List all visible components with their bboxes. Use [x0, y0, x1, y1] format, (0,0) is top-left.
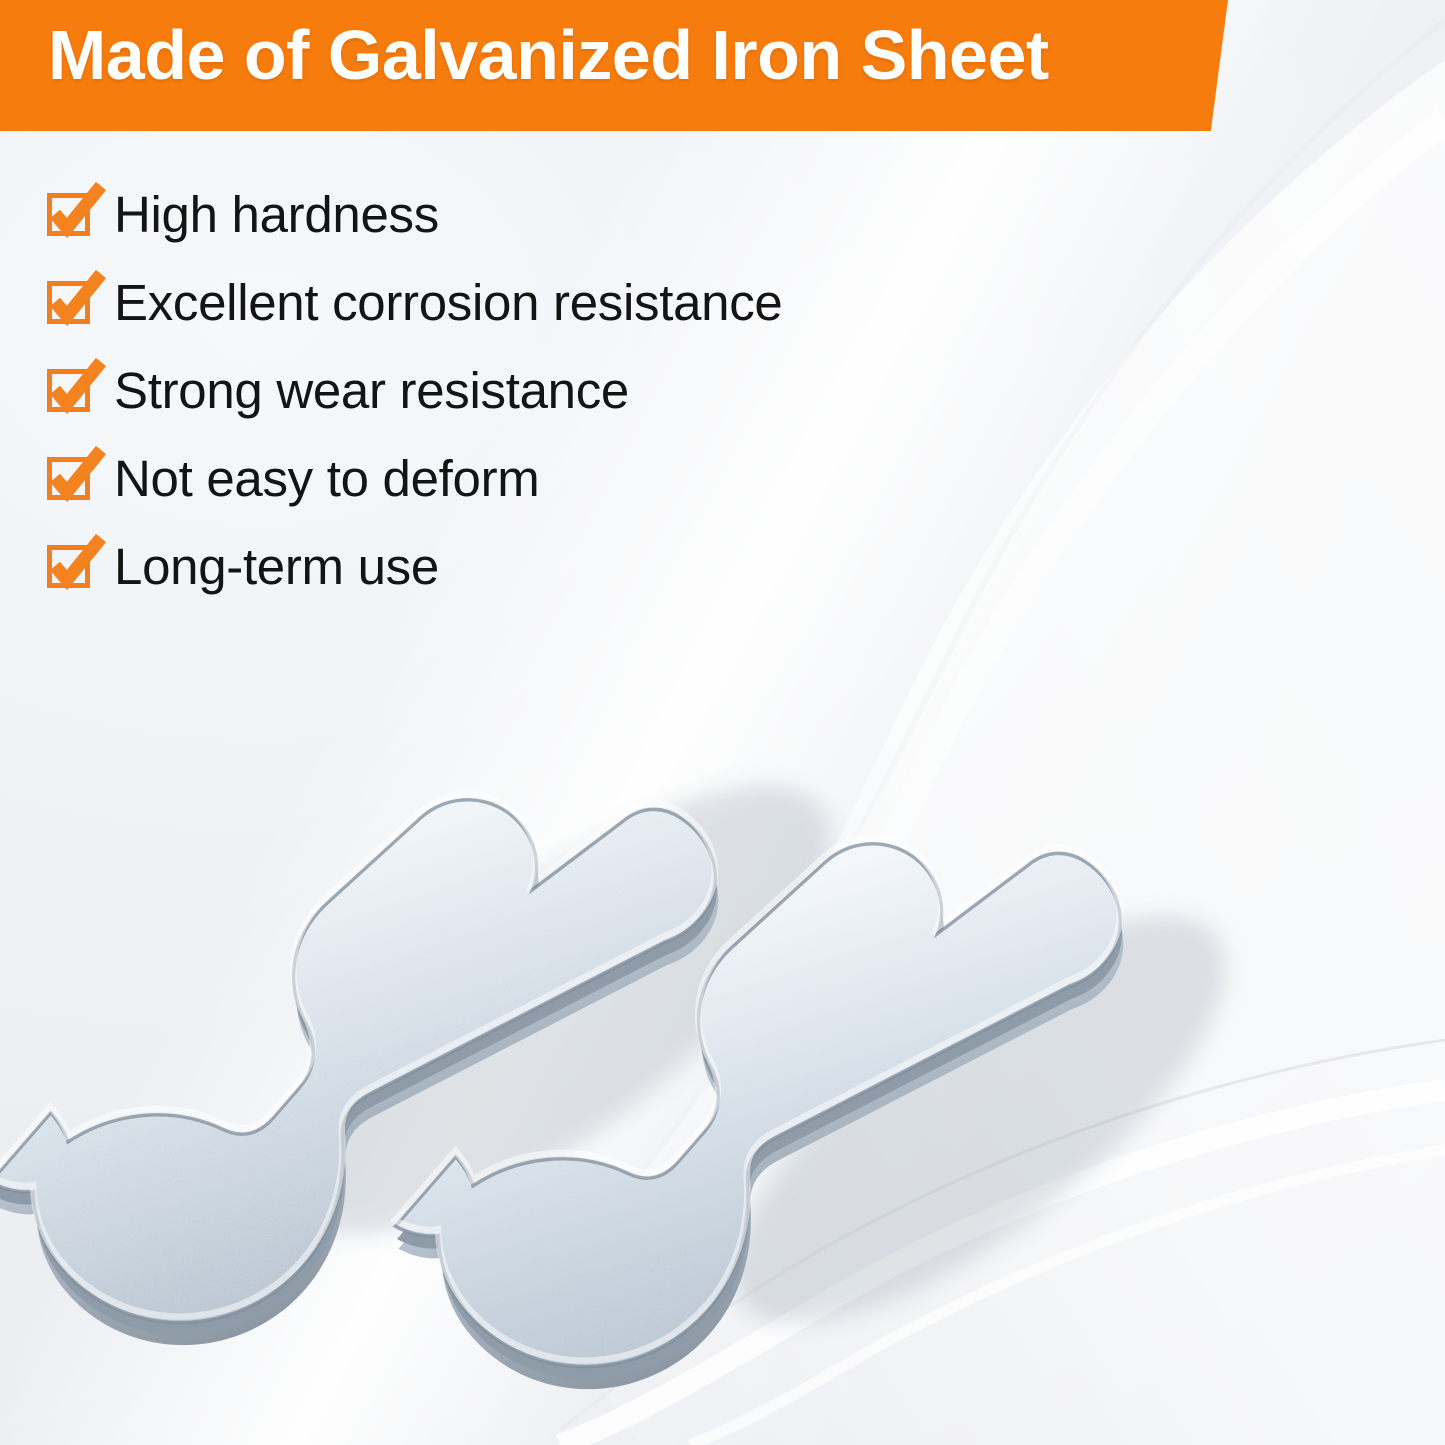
list-item: Excellent corrosion resistance [47, 258, 782, 346]
page-title: Made of Galvanized Iron Sheet [48, 20, 1049, 90]
feature-label: Strong wear resistance [114, 365, 629, 416]
checkbox-checked-icon [47, 281, 90, 324]
check-mark-icon [45, 360, 107, 422]
checkbox-checked-icon [47, 193, 90, 236]
product-feature-image: Made of Galvanized Iron Sheet High hardn… [0, 0, 1445, 1445]
check-mark-icon [45, 184, 107, 246]
check-mark-icon [45, 536, 107, 598]
list-item: Long-term use [47, 522, 782, 610]
header-banner: Made of Galvanized Iron Sheet [0, 0, 1228, 131]
checkbox-checked-icon [47, 545, 90, 588]
checkbox-checked-icon [47, 369, 90, 412]
feature-label: High hardness [114, 189, 439, 240]
list-item: Not easy to deform [47, 434, 782, 522]
checkbox-checked-icon [47, 457, 90, 500]
list-item: High hardness [47, 170, 782, 258]
feature-label: Long-term use [114, 541, 439, 592]
check-mark-icon [45, 448, 107, 510]
feature-list: High hardness Excellent corrosion resist… [47, 170, 782, 610]
feature-label: Not easy to deform [114, 453, 539, 504]
check-mark-icon [45, 272, 107, 334]
feature-label: Excellent corrosion resistance [114, 277, 782, 328]
list-item: Strong wear resistance [47, 346, 782, 434]
